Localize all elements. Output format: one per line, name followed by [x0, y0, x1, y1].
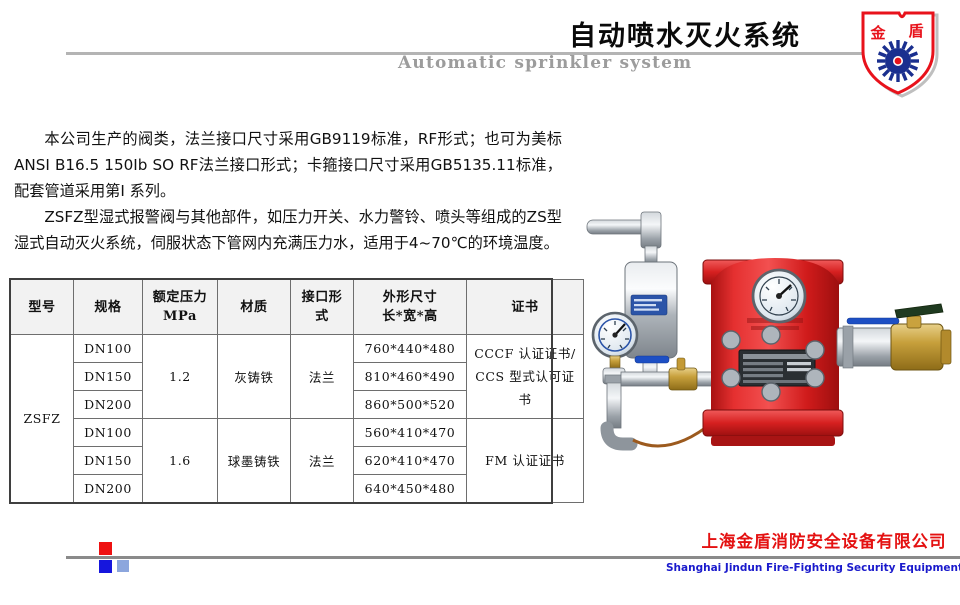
- certificate-line-1: CCCF 认证证书/: [469, 342, 581, 365]
- cell-dimension: 860*500*520: [354, 391, 467, 419]
- description-text: 本公司生产的阀类，法兰接口尺寸采用GB9119标准，RF形式；也可为美标ANSI…: [14, 126, 562, 256]
- column-header-connection: 接口形 式: [291, 280, 354, 335]
- cell-dimension: 620*410*470: [354, 447, 467, 475]
- column-header-certificate: 证书: [467, 280, 584, 335]
- column-header-spec-label: 规格: [94, 300, 121, 315]
- table-header-row: 型号 规格 额定压力 MPa 材质 接口形 式 外形尺寸 长*宽*高 证书: [11, 280, 584, 335]
- paragraph-flange-standards: 本公司生产的阀类，法兰接口尺寸采用GB9119标准，RF形式；也可为美标ANSI…: [14, 126, 562, 204]
- cell-spec: DN150: [74, 447, 143, 475]
- outlet-hex-nut: [843, 326, 853, 368]
- valve-bottom-flange: [703, 410, 843, 436]
- drain-riser: [607, 382, 621, 428]
- cell-connection: 法兰: [291, 419, 354, 503]
- page-title-chinese: 自动喷水灭火系统: [560, 14, 810, 53]
- cell-model: ZSFZ: [11, 335, 74, 503]
- paragraph-system-description: ZSFZ型湿式报警阀与其他部件，如压力开关、水力警铃、喷头等组成的ZS型湿式自动…: [14, 204, 562, 256]
- column-header-model-label: 型号: [28, 300, 55, 315]
- page-header: 自动喷水灭火系统 Automatic sprinkler system 金 盾: [0, 0, 960, 100]
- company-name-english: Shanghai Jindun Fire-Fighting Security E…: [666, 562, 958, 574]
- logo-char-dun: 盾: [908, 22, 923, 40]
- cell-dimension: 760*440*480: [354, 335, 467, 363]
- cell-dimension: 560*410*470: [354, 419, 467, 447]
- logo-char-jin: 金: [869, 24, 886, 42]
- column-header-dimension-format: 长*宽*高: [356, 307, 464, 326]
- cell-certificate: FM 认证证书: [467, 419, 584, 503]
- table-row: ZSFZ DN100 1.2 灰铸铁 法兰 760*440*480 CCCF 认…: [11, 335, 584, 363]
- logo-sunburst: [877, 40, 919, 82]
- wet-alarm-valve-photo: [575, 200, 955, 518]
- column-header-pressure-label: 额定压力: [145, 288, 215, 307]
- body-pressure-gauge: [753, 270, 805, 322]
- column-header-certificate-label: 证书: [511, 300, 538, 315]
- column-header-material-label: 材质: [240, 300, 267, 315]
- cell-spec: DN150: [74, 363, 143, 391]
- certificate-line-2: CCS 型式认可证书: [469, 365, 581, 411]
- top-outlet-pipe: [587, 220, 649, 234]
- cell-certificate: CCCF 认证证书/ CCS 型式认可证书: [467, 335, 584, 419]
- valve-base-skirt: [711, 436, 835, 446]
- footer-accent-square-blue: [99, 560, 112, 573]
- column-header-connection-label2: 式: [293, 307, 351, 326]
- cell-spec: DN200: [74, 475, 143, 503]
- footer-divider-line: [66, 556, 960, 559]
- footer-accent-square-lightblue: [117, 560, 129, 572]
- top-tee-fitting: [641, 212, 661, 248]
- cell-dimension: 640*450*480: [354, 475, 467, 503]
- column-header-model: 型号: [11, 280, 74, 335]
- jindun-shield-logo-icon: 金 盾: [855, 6, 947, 98]
- left-pressure-gauge: [593, 313, 637, 368]
- top-riser-pipe: [645, 246, 657, 264]
- cell-material: 灰铸铁: [218, 335, 291, 419]
- table-row: DN100 1.6 球墨铸铁 法兰 560*410*470 FM 认证证书: [11, 419, 584, 447]
- cell-connection: 法兰: [291, 335, 354, 419]
- drain-elbow: [607, 428, 631, 444]
- column-header-pressure: 额定压力 MPa: [143, 280, 218, 335]
- label-line: [634, 309, 659, 311]
- label-line: [634, 299, 662, 301]
- trim-valve-handle: [635, 356, 669, 363]
- column-header-material: 材质: [218, 280, 291, 335]
- valve-nameplate: [739, 350, 815, 386]
- column-header-dimension-label: 外形尺寸: [356, 288, 464, 307]
- specification-table: 型号 规格 额定压力 MPa 材质 接口形 式 外形尺寸 长*宽*高 证书: [10, 279, 584, 503]
- gauge-stem: [610, 356, 620, 368]
- cell-spec: DN100: [74, 419, 143, 447]
- column-header-pressure-unit: MPa: [145, 307, 215, 326]
- page-subtitle-english: Automatic sprinkler system: [398, 53, 668, 73]
- column-header-connection-label: 接口形: [293, 288, 351, 307]
- footer-accent-square-red: [99, 542, 112, 555]
- column-header-dimension: 外形尺寸 长*宽*高: [354, 280, 467, 335]
- cell-material: 球墨铸铁: [218, 419, 291, 503]
- cell-spec: DN200: [74, 391, 143, 419]
- cell-dimension: 810*460*490: [354, 363, 467, 391]
- column-header-spec: 规格: [74, 280, 143, 335]
- outlet-valve-tie: [847, 318, 899, 324]
- label-line: [634, 304, 656, 306]
- company-name-chinese: 上海金盾消防安全设备有限公司: [690, 528, 958, 552]
- union-nut: [605, 375, 623, 383]
- cell-pressure: 1.6: [143, 419, 218, 503]
- cell-spec: DN100: [74, 335, 143, 363]
- cell-pressure: 1.2: [143, 335, 218, 419]
